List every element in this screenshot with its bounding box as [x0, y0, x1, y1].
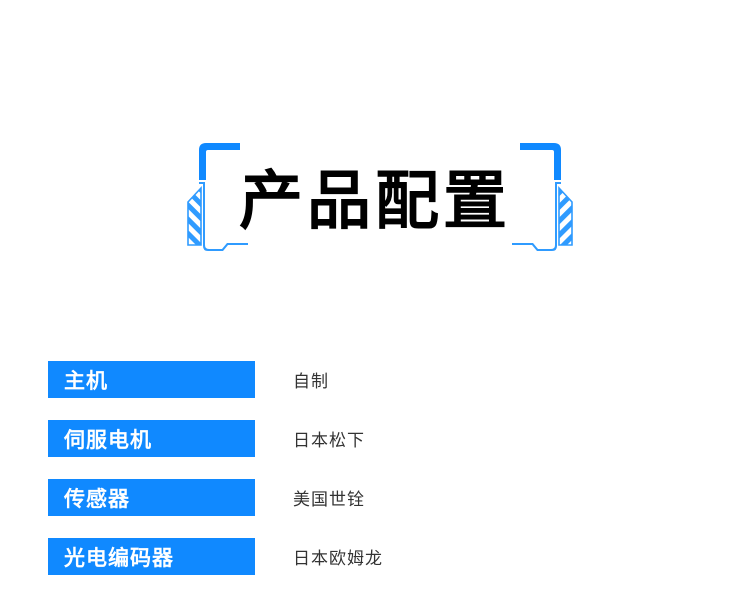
spec-value: 自制	[293, 361, 329, 398]
spec-value: 日本欧姆龙	[293, 538, 383, 575]
product-config-table: 主机 自制 伺服电机 日本松下 传感器 美国世铨 光电编码器 日本欧姆龙	[0, 361, 750, 597]
spec-label: 伺服电机	[48, 420, 255, 457]
table-row: 伺服电机 日本松下	[0, 420, 750, 457]
spec-value: 日本松下	[293, 420, 365, 457]
spec-label: 传感器	[48, 479, 255, 516]
table-row: 光电编码器 日本欧姆龙	[0, 538, 750, 575]
table-row: 传感器 美国世铨	[0, 479, 750, 516]
table-row: 主机 自制	[0, 361, 750, 398]
title-banner: 产品配置	[0, 130, 750, 270]
spec-label: 光电编码器	[48, 538, 255, 575]
page-title: 产品配置	[0, 130, 750, 270]
spec-value: 美国世铨	[293, 479, 365, 516]
spec-label: 主机	[48, 361, 255, 398]
